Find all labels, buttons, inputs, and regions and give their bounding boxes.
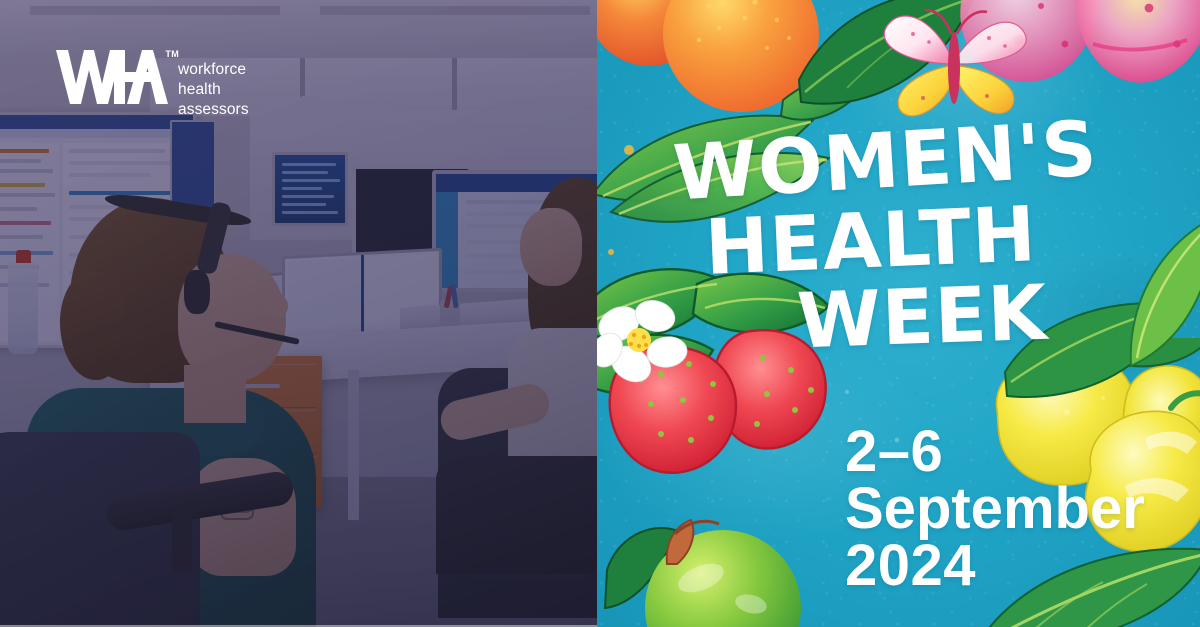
wha-logomark-icon: TM: [56, 48, 168, 106]
date-line-month: September: [845, 481, 1145, 538]
logo-word-health: health: [178, 80, 249, 100]
trademark-symbol: TM: [165, 49, 179, 59]
date-line-range: 2–6: [845, 424, 1145, 481]
logo-word-workforce: workforce: [178, 60, 249, 80]
womens-health-week-poster: WOMEN'S HEALTH WEEK 2–6 September 2024: [597, 0, 1200, 627]
wha-logo-wordmark: workforce health assessors: [178, 48, 249, 120]
whw-banner: TM workforce health assessors: [0, 0, 1200, 627]
wha-logo: TM workforce health assessors: [56, 48, 249, 120]
logo-word-assessors: assessors: [178, 100, 249, 120]
date-line-year: 2024: [845, 538, 1145, 595]
poster-date-block: 2–6 September 2024: [845, 424, 1145, 594]
office-photo-panel: TM workforce health assessors: [0, 0, 597, 627]
